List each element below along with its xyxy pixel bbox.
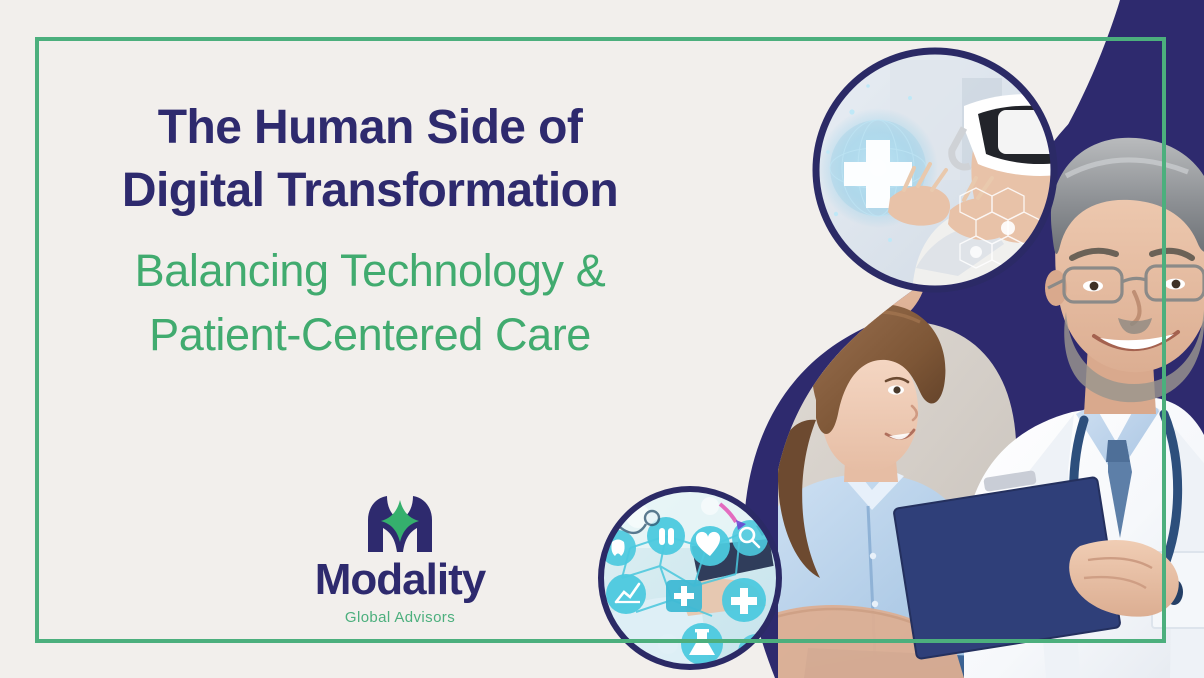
brand-logo: Modality Global Advisors xyxy=(242,492,558,626)
icon-bubble-cross-square xyxy=(666,580,702,612)
headline-line-1: The Human Side of xyxy=(60,96,680,159)
icon-bubble-chart xyxy=(606,574,646,614)
icon-bubble-plus xyxy=(722,578,766,622)
logo-wordmark: Modality xyxy=(242,558,558,602)
headline-line-2: Digital Transformation xyxy=(60,159,680,222)
health-icons-circle-photo xyxy=(600,488,780,670)
icon-bubble-flask xyxy=(681,623,723,665)
subtitle-line-1: Balancing Technology & xyxy=(60,239,680,303)
page-subtitle: Balancing Technology & Patient-Centered … xyxy=(60,239,680,367)
modality-m-diamond-mark-icon xyxy=(365,492,435,554)
page-title: The Human Side of Digital Transformation xyxy=(60,96,680,223)
logo-tagline: Global Advisors xyxy=(242,609,558,626)
subtitle-line-2: Patient-Centered Care xyxy=(60,303,680,367)
slide-canvas: The Human Side of Digital Transformation… xyxy=(0,0,1204,678)
text-column: The Human Side of Digital Transformation… xyxy=(60,96,680,367)
icon-bubble-heart xyxy=(690,526,730,566)
